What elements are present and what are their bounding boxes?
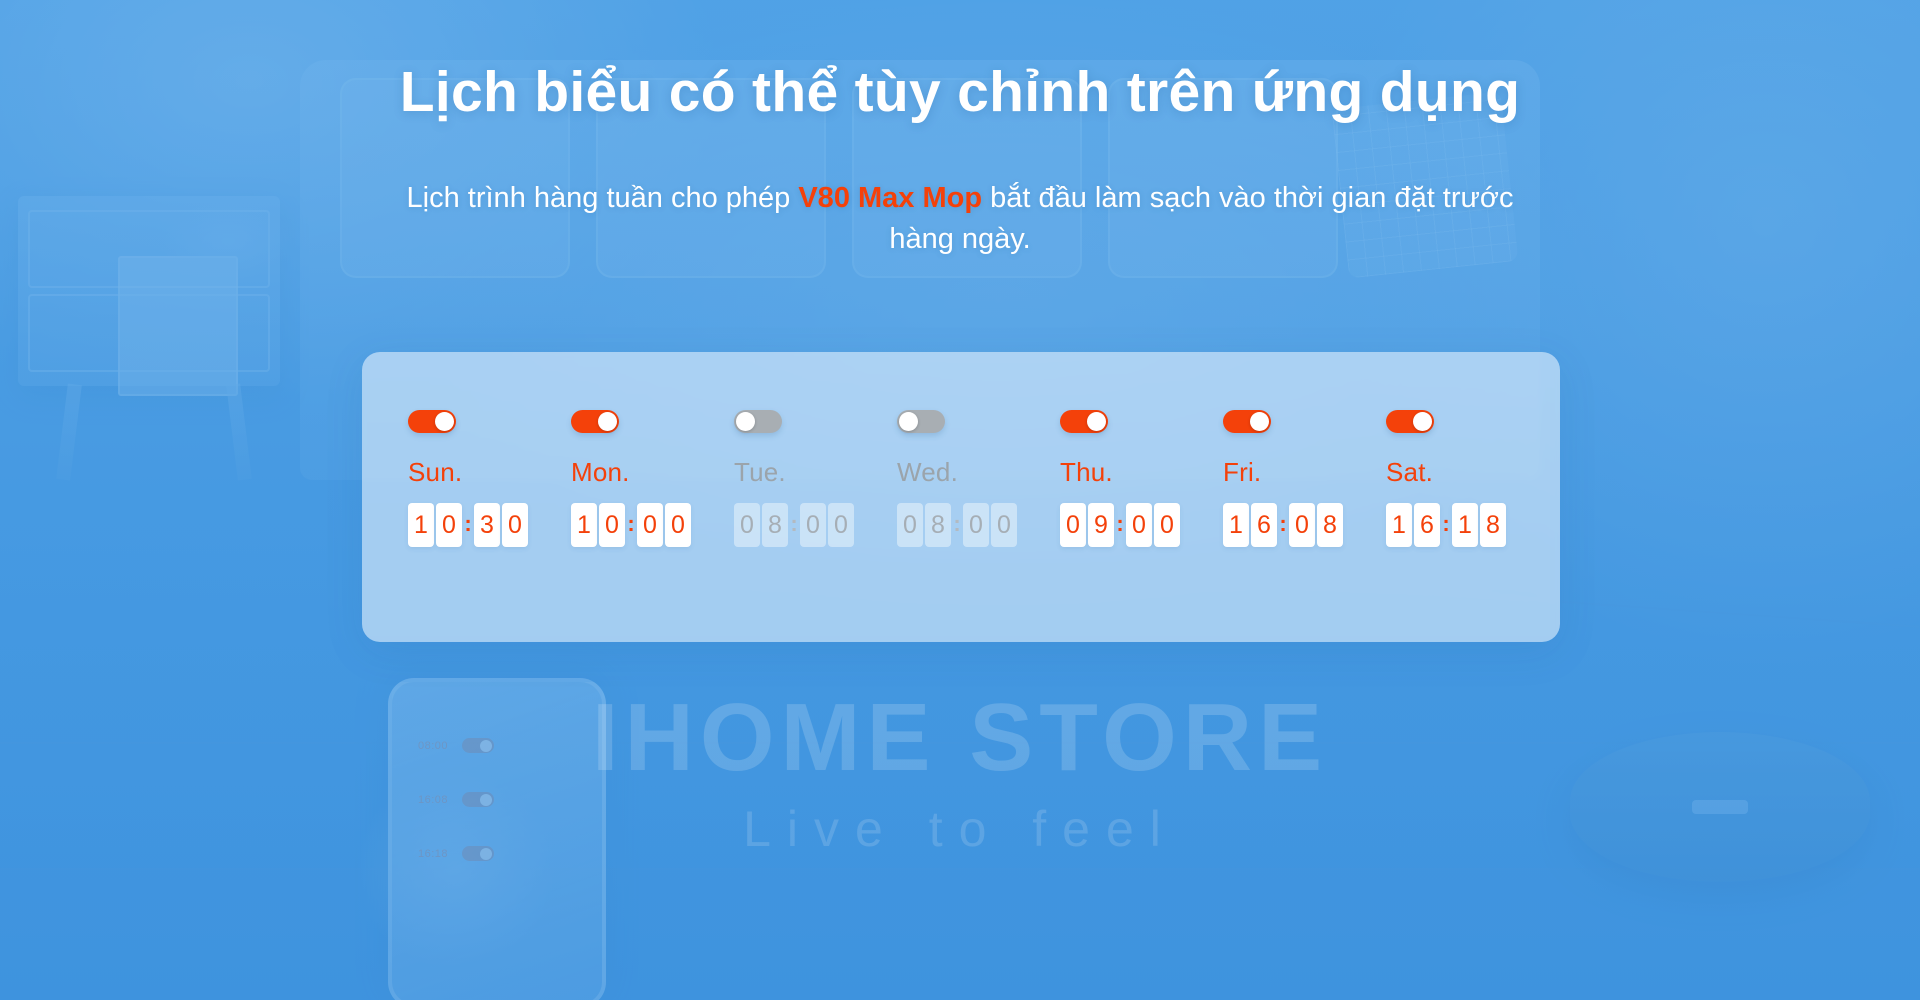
subtitle-text-after: bắt đầu làm sạch vào thời gian đặt trước… bbox=[889, 182, 1513, 255]
time-digit: 0 bbox=[828, 503, 854, 547]
toggle-knob-icon bbox=[435, 412, 454, 431]
day-time-display[interactable]: 09:00 bbox=[1060, 503, 1223, 547]
time-digit: 0 bbox=[991, 503, 1017, 547]
day-label: Wed. bbox=[897, 459, 1060, 485]
day-toggle-sat[interactable] bbox=[1386, 410, 1434, 433]
day-label: Sun. bbox=[408, 459, 571, 485]
toggle-knob-icon bbox=[1087, 412, 1106, 431]
time-digit: 6 bbox=[1414, 503, 1440, 547]
day-column-tue: Tue.08:00 bbox=[734, 410, 897, 547]
day-column-sat: Sat.16:18 bbox=[1386, 410, 1549, 547]
day-column-fri: Fri.16:08 bbox=[1223, 410, 1386, 547]
promo-banner: 08:00 16:08 16:18 IHOME STORE Live to fe… bbox=[0, 0, 1920, 1000]
day-toggle-sun[interactable] bbox=[408, 410, 456, 433]
toggle-knob-icon bbox=[736, 412, 755, 431]
subtitle-text-before: Lịch trình hàng tuần cho phép bbox=[407, 182, 799, 214]
day-time-display[interactable]: 16:18 bbox=[1386, 503, 1549, 547]
time-digit: 1 bbox=[1386, 503, 1412, 547]
day-time-display[interactable]: 08:00 bbox=[897, 503, 1060, 547]
product-name-highlight: V80 Max Mop bbox=[798, 182, 982, 214]
time-digit: 8 bbox=[1317, 503, 1343, 547]
day-label: Tue. bbox=[734, 459, 897, 485]
toggle-knob-icon bbox=[598, 412, 617, 431]
day-time-display[interactable]: 10:00 bbox=[571, 503, 734, 547]
day-time-display[interactable]: 16:08 bbox=[1223, 503, 1386, 547]
time-separator: : bbox=[462, 513, 474, 535]
time-digit: 0 bbox=[1289, 503, 1315, 547]
time-digit: 0 bbox=[800, 503, 826, 547]
time-separator: : bbox=[1440, 513, 1452, 535]
page-subtitle: Lịch trình hàng tuần cho phép V80 Max Mo… bbox=[380, 178, 1540, 260]
day-toggle-tue[interactable] bbox=[734, 410, 782, 433]
time-digit: 0 bbox=[637, 503, 663, 547]
time-digit: 8 bbox=[925, 503, 951, 547]
day-column-wed: Wed.08:00 bbox=[897, 410, 1060, 547]
time-digit: 1 bbox=[408, 503, 434, 547]
day-column-thu: Thu.09:00 bbox=[1060, 410, 1223, 547]
time-digit: 0 bbox=[665, 503, 691, 547]
time-digit: 0 bbox=[502, 503, 528, 547]
time-digit: 0 bbox=[1126, 503, 1152, 547]
day-column-sun: Sun.10:30 bbox=[408, 410, 571, 547]
time-separator: : bbox=[788, 513, 800, 535]
toggle-knob-icon bbox=[1250, 412, 1269, 431]
schedule-days-row: Sun.10:30Mon.10:00Tue.08:00Wed.08:00Thu.… bbox=[408, 410, 1549, 547]
time-digit: 1 bbox=[1452, 503, 1478, 547]
time-digit: 8 bbox=[762, 503, 788, 547]
day-column-mon: Mon.10:00 bbox=[571, 410, 734, 547]
day-label: Thu. bbox=[1060, 459, 1223, 485]
time-digit: 1 bbox=[571, 503, 597, 547]
day-time-display[interactable]: 08:00 bbox=[734, 503, 897, 547]
time-digit: 8 bbox=[1480, 503, 1506, 547]
time-digit: 6 bbox=[1251, 503, 1277, 547]
time-digit: 0 bbox=[436, 503, 462, 547]
day-label: Sat. bbox=[1386, 459, 1549, 485]
time-digit: 9 bbox=[1088, 503, 1114, 547]
day-toggle-fri[interactable] bbox=[1223, 410, 1271, 433]
time-digit: 0 bbox=[1154, 503, 1180, 547]
toggle-knob-icon bbox=[899, 412, 918, 431]
time-digit: 0 bbox=[897, 503, 923, 547]
toggle-knob-icon bbox=[1413, 412, 1432, 431]
time-digit: 0 bbox=[599, 503, 625, 547]
time-separator: : bbox=[625, 513, 637, 535]
day-toggle-mon[interactable] bbox=[571, 410, 619, 433]
day-toggle-thu[interactable] bbox=[1060, 410, 1108, 433]
time-separator: : bbox=[1277, 513, 1289, 535]
day-label: Fri. bbox=[1223, 459, 1386, 485]
time-separator: : bbox=[1114, 513, 1126, 535]
day-label: Mon. bbox=[571, 459, 734, 485]
time-separator: : bbox=[951, 513, 963, 535]
time-digit: 3 bbox=[474, 503, 500, 547]
page-title: Lịch biểu có thể tùy chỉnh trên ứng dụng bbox=[0, 60, 1920, 126]
day-time-display[interactable]: 10:30 bbox=[408, 503, 571, 547]
time-digit: 1 bbox=[1223, 503, 1249, 547]
weekly-schedule-card: Sun.10:30Mon.10:00Tue.08:00Wed.08:00Thu.… bbox=[362, 352, 1560, 642]
day-toggle-wed[interactable] bbox=[897, 410, 945, 433]
time-digit: 0 bbox=[734, 503, 760, 547]
time-digit: 0 bbox=[963, 503, 989, 547]
time-digit: 0 bbox=[1060, 503, 1086, 547]
